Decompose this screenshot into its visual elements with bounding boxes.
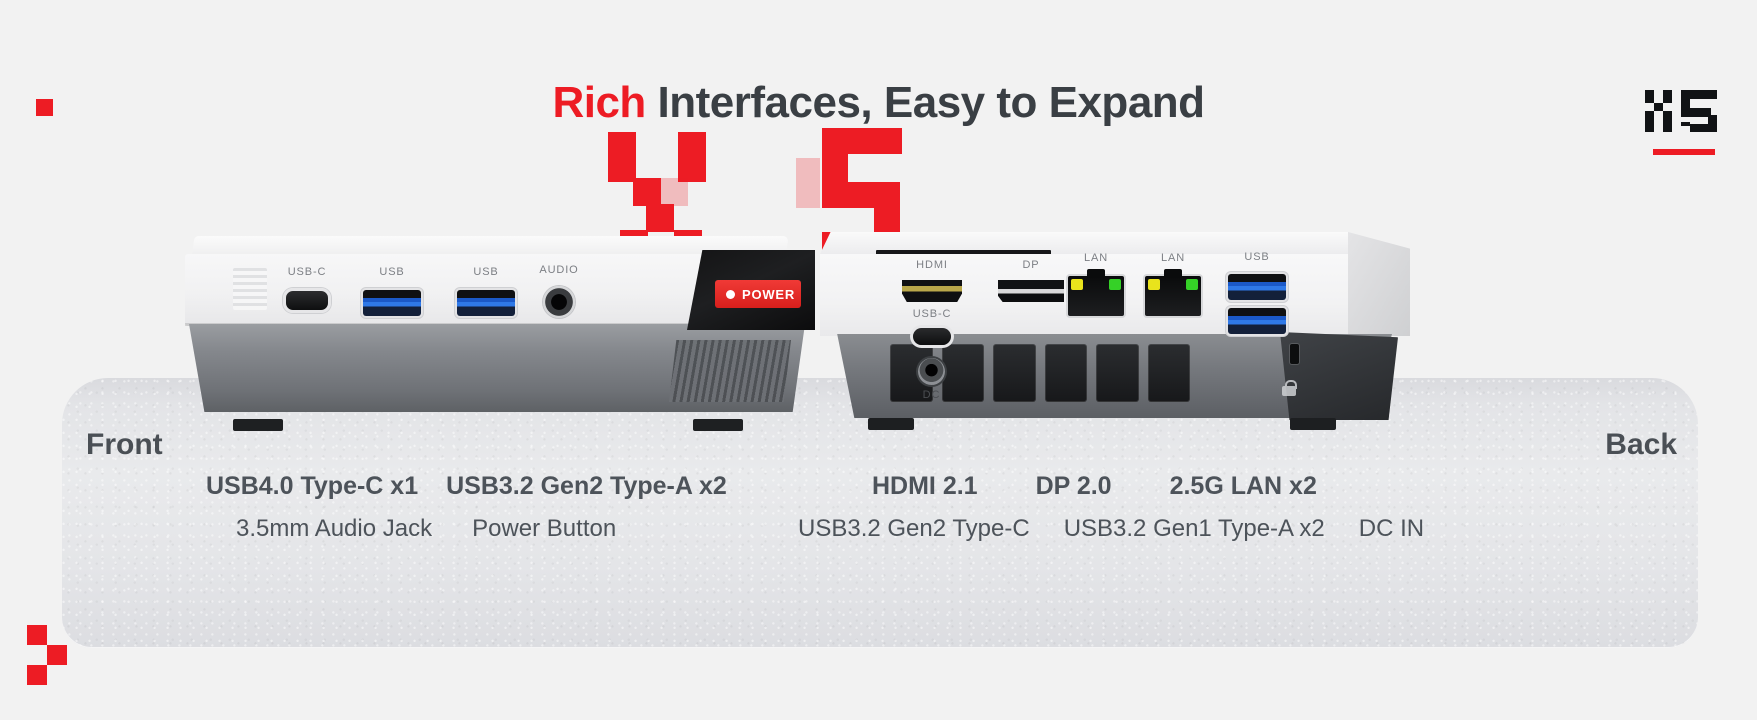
heatsink-fin: [942, 344, 985, 402]
front-vent-grille: [669, 340, 791, 402]
title-highlight: Rich: [552, 78, 645, 127]
lan-led-amber-icon: [1071, 279, 1083, 290]
back-spec-3: 2.5G LAN x2: [1170, 472, 1317, 501]
decorative-pixel-bottom-left-2: [47, 645, 67, 665]
front-power-plate: POWER: [687, 250, 815, 330]
front-port-usb-2[interactable]: USB: [457, 290, 515, 316]
power-indicator-icon: [726, 290, 735, 299]
front-spec-3: 3.5mm Audio Jack: [236, 515, 432, 543]
back-port-usbc[interactable]: USB-C: [913, 328, 951, 345]
back-kensington-slot: [1290, 344, 1299, 364]
heatsink-fin: [1096, 344, 1139, 402]
back-port-lan-2-label: LAN: [1161, 252, 1185, 264]
decorative-pixel-bottom-left-1: [27, 625, 47, 645]
back-spec-row-2: USB3.2 Gen2 Type-C USB3.2 Gen1 Type-A x2…: [798, 515, 1424, 543]
back-right-side: [1348, 232, 1410, 336]
brand-underline: [1653, 149, 1715, 155]
back-port-lan-2[interactable]: LAN: [1145, 276, 1201, 316]
heatsink-fin: [993, 344, 1036, 402]
back-foot-left: [868, 418, 914, 430]
heatsink-fin: [1148, 344, 1191, 402]
back-port-dc-label: DC: [923, 389, 941, 401]
back-spec-row-1: HDMI 2.1 DP 2.0 2.5G LAN x2: [872, 472, 1317, 501]
lan-led-green-icon: [1186, 279, 1198, 290]
front-port-usb-1-label: USB: [379, 266, 404, 278]
kensington-slot-icon: [1290, 344, 1299, 364]
back-spec-1: HDMI 2.1: [872, 472, 978, 501]
usbc-port-icon: [283, 288, 331, 313]
title-rest: Interfaces, Easy to Expand: [658, 78, 1205, 127]
power-button-label: POWER: [742, 287, 795, 302]
back-port-usb-label: USB: [1244, 251, 1269, 263]
back-port-dp[interactable]: DP: [998, 280, 1064, 302]
back-spec-6: DC IN: [1359, 515, 1424, 543]
lan-port-icon: [1145, 276, 1201, 316]
displayport-port-icon: [998, 280, 1064, 302]
back-port-lan-1[interactable]: LAN: [1068, 276, 1124, 316]
front-foot-right: [693, 419, 743, 431]
front-side-grille: [233, 268, 267, 310]
lan-led-amber-icon: [1148, 279, 1160, 290]
device-back-view: HDMI USB-C DP LAN LAN: [820, 232, 1410, 422]
front-spec-4: Power Button: [472, 515, 616, 543]
front-spec-1: USB4.0 Type-C x1: [206, 472, 418, 501]
front-foot-left: [233, 419, 283, 431]
device-front-view: USB-C USB USB AUDIO POWER: [185, 236, 815, 421]
decorative-pixel-bottom-left-3: [27, 665, 47, 685]
usb-stack-group: [1228, 274, 1286, 334]
audio-jack-icon: [543, 286, 575, 318]
dc-jack-icon: [918, 358, 945, 385]
usb-a-port-icon: [363, 290, 421, 316]
usbc-port-icon: [913, 328, 951, 345]
back-spec-4: USB3.2 Gen2 Type-C: [798, 515, 1030, 543]
front-port-usbc[interactable]: USB-C: [283, 288, 331, 313]
back-port-lan-1-label: LAN: [1084, 252, 1108, 264]
back-port-dp-label: DP: [1022, 259, 1039, 271]
front-spec-row-2: 3.5mm Audio Jack Power Button: [236, 515, 616, 543]
lan-led-green-icon: [1109, 279, 1121, 290]
back-side-label: Back: [1605, 428, 1677, 462]
poster-stage: Rich Interfaces, Easy to Expand: [0, 0, 1757, 720]
front-spec-2: USB3.2 Gen2 Type-A x2: [446, 472, 727, 501]
usb-a-port-icon: [1228, 308, 1286, 334]
brand-badge: [1639, 88, 1729, 155]
page-title: Rich Interfaces, Easy to Expand: [0, 78, 1757, 128]
back-foot-right: [1290, 418, 1336, 430]
back-spec-5: USB3.2 Gen1 Type-A x2: [1064, 515, 1325, 543]
front-port-usb-1[interactable]: USB: [363, 290, 421, 316]
back-port-usbc-label: USB-C: [913, 308, 952, 320]
back-lock-marker: [1282, 380, 1296, 396]
back-port-hdmi[interactable]: HDMI: [902, 280, 962, 302]
front-port-usbc-label: USB-C: [288, 266, 327, 278]
usb-a-port-icon: [457, 290, 515, 316]
x5-logo-icon: [1645, 88, 1723, 134]
back-port-usb-stack[interactable]: USB: [1228, 274, 1286, 334]
front-port-audio[interactable]: AUDIO: [543, 286, 575, 318]
usb-a-port-icon: [1228, 274, 1286, 300]
front-port-usb-2-label: USB: [473, 266, 498, 278]
heatsink-fin: [1045, 344, 1088, 402]
power-button[interactable]: POWER: [715, 280, 801, 308]
front-spec-row-1: USB4.0 Type-C x1 USB3.2 Gen2 Type-A x2: [206, 472, 727, 501]
front-side-label: Front: [86, 428, 163, 462]
front-port-audio-label: AUDIO: [539, 264, 578, 276]
lan-port-icon: [1068, 276, 1124, 316]
back-port-hdmi-label: HDMI: [916, 259, 948, 271]
hdmi-port-icon: [902, 280, 962, 302]
back-port-dc[interactable]: DC: [918, 358, 945, 385]
lock-icon: [1282, 380, 1296, 396]
back-spec-2: DP 2.0: [1036, 472, 1112, 501]
